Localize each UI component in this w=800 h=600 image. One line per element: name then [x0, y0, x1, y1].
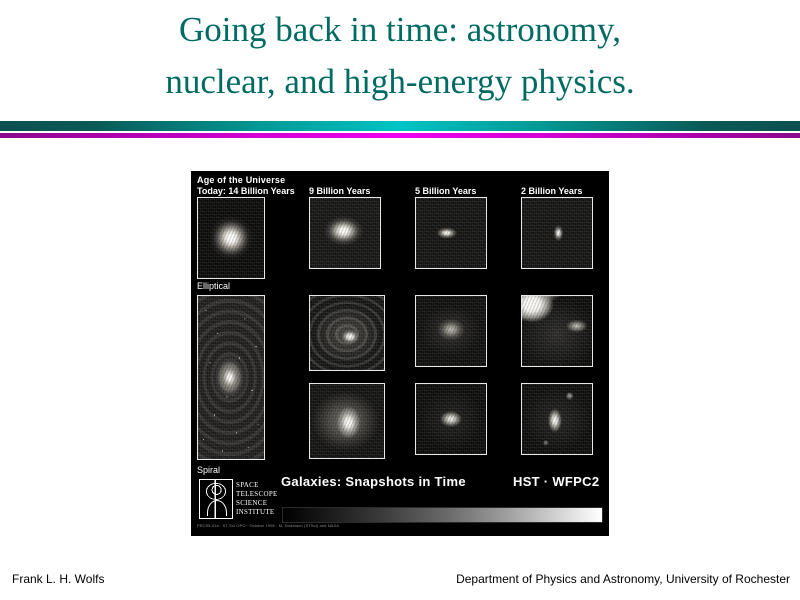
image-noise-overlay — [416, 384, 486, 454]
galaxy-thumbnail-spiral-9gyr-a — [309, 295, 385, 371]
galaxy-thumbnail-spiral-5gyr-a — [415, 295, 487, 367]
image-noise-overlay — [416, 198, 486, 268]
row-label-spiral: Spiral — [197, 465, 220, 475]
column-header-9gyr: 9 Billion Years — [309, 186, 370, 196]
row-label-elliptical: Elliptical — [197, 281, 230, 291]
image-noise-overlay — [310, 198, 380, 268]
grayscale-ramp — [282, 507, 603, 523]
stsci-word-science: SCIENCE — [236, 499, 278, 508]
figure-credit-line: PRC95-41a · ST ScI OPO · October 1995 · … — [197, 523, 339, 528]
image-noise-overlay — [198, 296, 264, 459]
stsci-word-institute: INSTITUTE — [236, 508, 278, 517]
stsci-logo-wordmark: SPACE TELESCOPE SCIENCE INSTITUTE — [236, 481, 278, 517]
column-header-today: Today: 14 Billion Years — [197, 186, 295, 196]
galaxy-thumbnail-spiral-9gyr-b — [309, 383, 385, 459]
page-title: Going back in time: astronomy, nuclear, … — [0, 4, 800, 108]
galaxy-thumbnail-spiral-2gyr-b — [521, 383, 593, 455]
image-noise-overlay — [522, 198, 592, 268]
galaxy-thumbnail-elliptical-today — [197, 197, 265, 279]
image-noise-overlay — [522, 384, 592, 454]
figure-instrument-label: HST · WFPC2 — [513, 474, 599, 489]
slide-footer: Frank L. H. Wolfs Department of Physics … — [0, 572, 800, 592]
title-line-1: Going back in time: astronomy, — [0, 4, 800, 56]
galaxy-thumbnail-elliptical-5gyr — [415, 197, 487, 269]
figure-caption: Galaxies: Snapshots in Time — [281, 474, 466, 489]
stsci-word-space: SPACE — [236, 481, 278, 490]
galaxy-thumbnail-spiral-5gyr-b — [415, 383, 487, 455]
column-header-5gyr: 5 Billion Years — [415, 186, 476, 196]
image-noise-overlay — [522, 296, 592, 366]
stsci-logo-icon — [199, 479, 233, 519]
hst-figure-panel: Age of the Universe Today: 14 Billion Ye… — [191, 171, 609, 536]
image-noise-overlay — [310, 296, 384, 370]
galaxy-thumbnail-spiral-2gyr-a — [521, 295, 593, 367]
image-noise-overlay — [416, 296, 486, 366]
divider-bar-magenta — [0, 133, 800, 138]
footer-affiliation: Department of Physics and Astronomy, Uni… — [456, 572, 790, 586]
image-noise-overlay — [198, 198, 264, 278]
figure-header-title: Age of the Universe — [197, 175, 285, 185]
galaxy-thumbnail-spiral-today — [197, 295, 265, 460]
footer-author: Frank L. H. Wolfs — [12, 572, 104, 586]
column-header-2gyr: 2 Billion Years — [521, 186, 582, 196]
stsci-word-telescope: TELESCOPE — [236, 490, 278, 499]
title-line-2: nuclear, and high-energy physics. — [0, 56, 800, 108]
image-noise-overlay — [310, 384, 384, 458]
galaxy-thumbnail-elliptical-2gyr — [521, 197, 593, 269]
galaxy-thumbnail-elliptical-9gyr — [309, 197, 381, 269]
divider-bar-teal — [0, 121, 800, 131]
